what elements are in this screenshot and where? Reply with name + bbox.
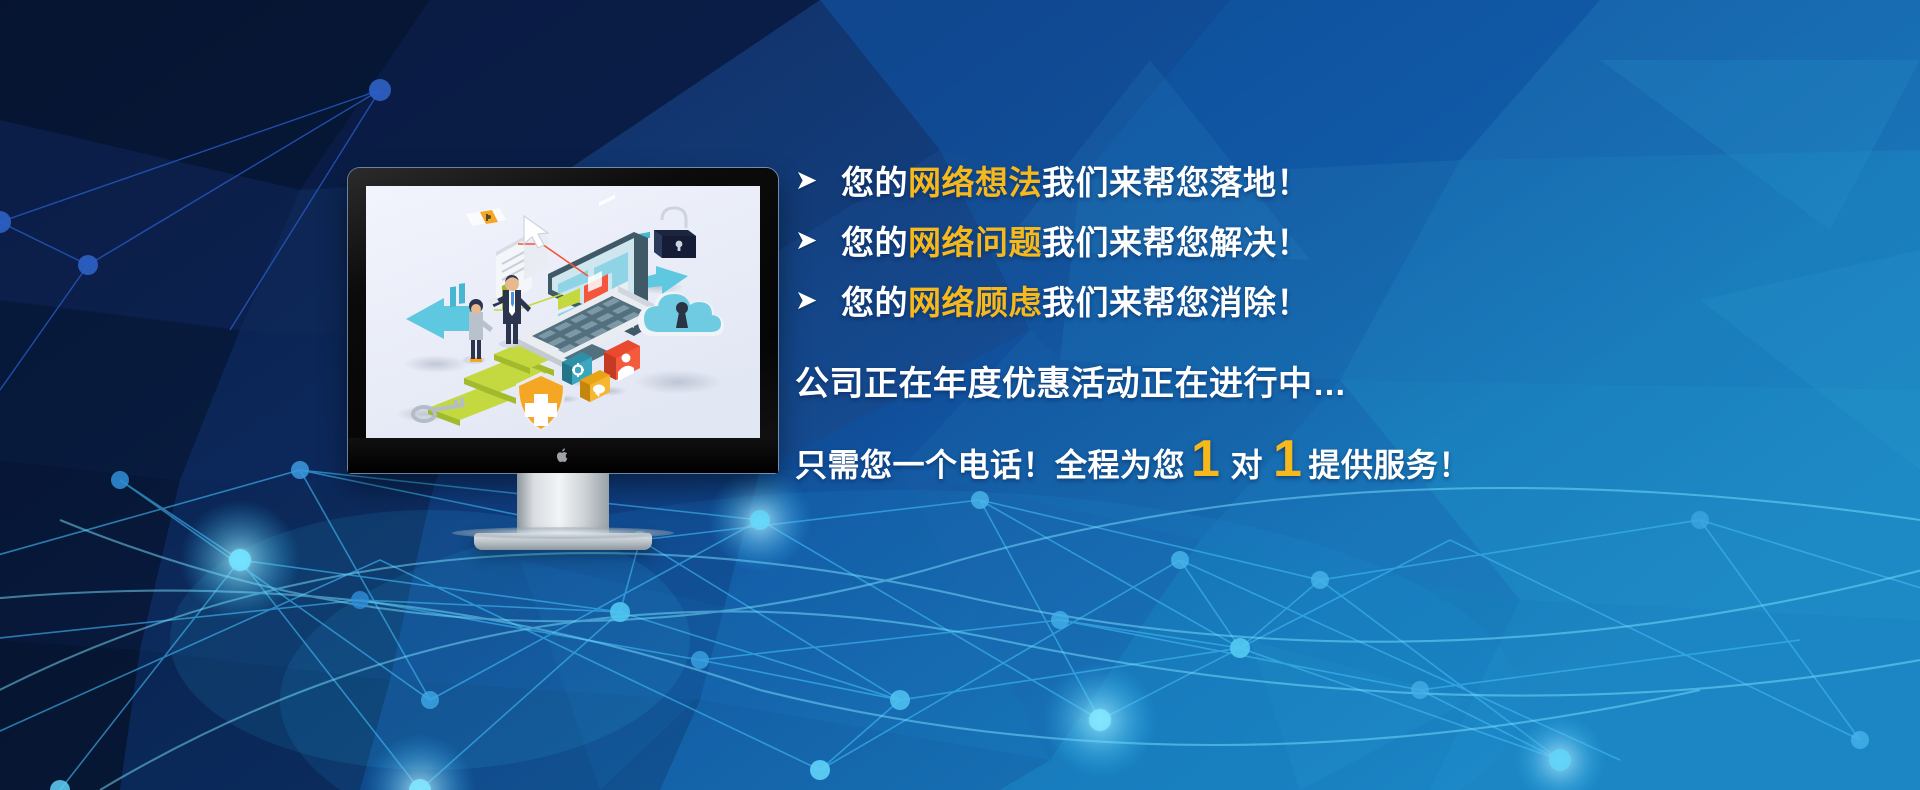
mesh-lines-topleft bbox=[0, 90, 380, 390]
arrow-right-icon: ➤ bbox=[795, 287, 841, 314]
arrow-right-icon: ➤ bbox=[795, 227, 841, 254]
imac-display bbox=[348, 168, 778, 550]
display-stand-neck bbox=[517, 473, 609, 533]
bullet-text-1: 您的网络想法我们来帮您落地！ bbox=[841, 156, 1310, 204]
list-item: ➤ 您的网络顾虑我们来帮您消除！ bbox=[795, 270, 1471, 330]
bullet-text-2: 您的网络问题我们来帮您解决！ bbox=[841, 216, 1310, 264]
bullet-2-pre: 您的 bbox=[841, 224, 908, 261]
bullet-3-post: 我们来帮您消除！ bbox=[1042, 284, 1310, 321]
apple-logo-icon bbox=[557, 448, 570, 463]
arrow-right-icon: ➤ bbox=[795, 167, 841, 194]
bullet-1-pre: 您的 bbox=[841, 164, 908, 201]
bullet-1-post: 我们来帮您落地！ bbox=[1042, 164, 1310, 201]
callout-lead: 只需您一个电话！全程为您 bbox=[795, 440, 1185, 486]
isometric-illustration bbox=[366, 186, 760, 438]
display-chin bbox=[348, 438, 778, 473]
bullet-text-3: 您的网络顾虑我们来帮您消除！ bbox=[841, 276, 1310, 324]
mesh-lines bbox=[0, 470, 1920, 790]
list-item: ➤ 您的网络想法我们来帮您落地！ bbox=[795, 150, 1471, 210]
display-bezel bbox=[348, 168, 778, 473]
bullet-3-highlight: 网络顾虑 bbox=[908, 284, 1042, 321]
bullet-3-pre: 您的 bbox=[841, 284, 908, 321]
bullet-1-highlight: 网络想法 bbox=[908, 164, 1042, 201]
callout-middle: 对 bbox=[1226, 440, 1267, 486]
display-stand-base bbox=[474, 533, 652, 550]
callout-tail: 提供服务！ bbox=[1308, 440, 1471, 486]
callout-number-two: 1 bbox=[1267, 433, 1308, 485]
display-screen bbox=[366, 186, 760, 438]
bullet-2-post: 我们来帮您解决！ bbox=[1042, 224, 1310, 261]
callout-line: 只需您一个电话！全程为您 1 对 1 提供服务！ bbox=[795, 433, 1471, 486]
bullet-2-highlight: 网络问题 bbox=[908, 224, 1042, 261]
marketing-copy: ➤ 您的网络想法我们来帮您落地！ ➤ 您的网络问题我们来帮您解决！ ➤ 您的网络… bbox=[795, 150, 1471, 486]
promotional-banner: ➤ 您的网络想法我们来帮您落地！ ➤ 您的网络问题我们来帮您解决！ ➤ 您的网络… bbox=[0, 0, 1920, 790]
promo-line: 公司正在年度优惠活动正在进行中… bbox=[795, 356, 1471, 405]
callout-number-one: 1 bbox=[1185, 433, 1226, 485]
list-item: ➤ 您的网络问题我们来帮您解决！ bbox=[795, 210, 1471, 270]
